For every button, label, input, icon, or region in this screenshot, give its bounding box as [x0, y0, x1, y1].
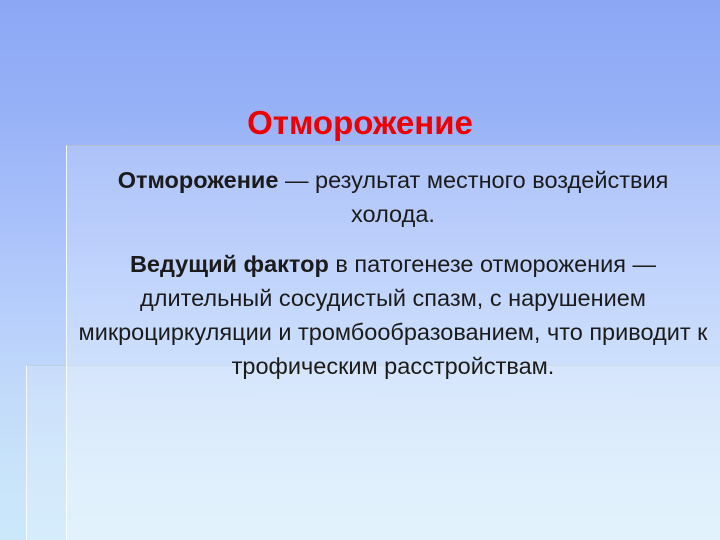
paragraph-1-regular-run: — результат местного воздействия холода.: [278, 167, 668, 227]
paragraph-2-bold-run: Ведущий фактор: [130, 251, 329, 277]
body-paragraph-1: Отморожение — результат местного воздейс…: [74, 163, 712, 231]
body-paragraph-2: Ведущий фактор в патогенезе отморожения …: [74, 247, 712, 383]
presentation-slide: Отморожение Отморожение — результат мест…: [0, 0, 720, 540]
slide-body-text: Отморожение — результат местного воздейс…: [66, 163, 720, 383]
slide-title: Отморожение: [0, 106, 720, 139]
paragraph-1-bold-run: Отморожение: [118, 167, 279, 193]
